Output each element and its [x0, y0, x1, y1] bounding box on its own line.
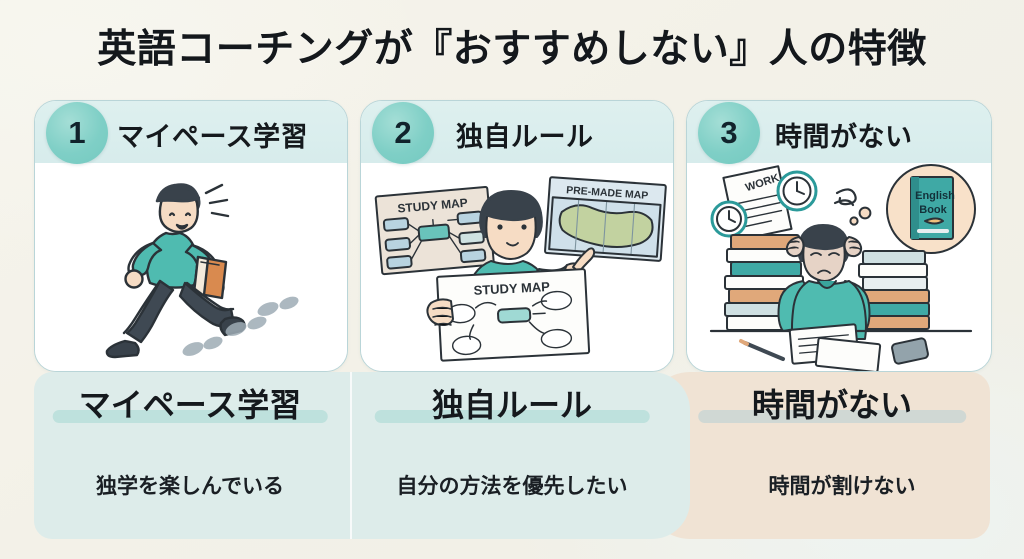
card-2-number: 2: [372, 102, 434, 164]
card-1-pill-label: マイペース学習: [34, 380, 346, 426]
card-2-pill-bar: 独自ルール: [356, 372, 668, 438]
card-1-header-title: マイペース学習: [117, 115, 308, 154]
card-1-number-badge: 1: [46, 102, 108, 164]
card-3-pill-bar: 時間がない: [680, 372, 984, 438]
stressed-person-with-book-stacks-illustration: WORK: [687, 163, 991, 371]
card-3-number-badge: 3: [698, 102, 760, 164]
person-holding-study-map-illustration: STUDY MAP: [361, 163, 673, 371]
svg-text:Book: Book: [919, 204, 947, 216]
page-title: 英語コーチングが『おすすめしない』人の特徴: [0, 18, 1024, 74]
card-3-caption: 時間が割けない: [690, 470, 994, 510]
card-1-number: 1: [46, 102, 108, 164]
infographic-canvas: 英語コーチングが『おすすめしない』人の特徴 マイペース学習: [0, 0, 1024, 559]
card-1-pill-bar: マイペース学習: [34, 372, 346, 438]
card-1-caption: 独学を楽しんでいる: [34, 470, 346, 510]
card-2-body: STUDY MAP: [361, 163, 673, 371]
card-3-pill-label: 時間がない: [680, 380, 984, 426]
card-2-header-title: 独自ルール: [456, 115, 594, 154]
card-3-header-title: 時間がない: [775, 115, 913, 154]
svg-text:English: English: [915, 190, 955, 202]
card-2-number-badge: 2: [372, 102, 434, 164]
card-3-number: 3: [698, 102, 760, 164]
card-1-body: [35, 163, 347, 371]
panel-divider-1: [350, 372, 352, 539]
card-2-pill-label: 独自ルール: [356, 380, 668, 426]
card-2-caption: 自分の方法を優先したい: [356, 470, 668, 510]
card-3-body: WORK: [687, 163, 991, 371]
running-person-with-book-illustration: [35, 163, 347, 371]
